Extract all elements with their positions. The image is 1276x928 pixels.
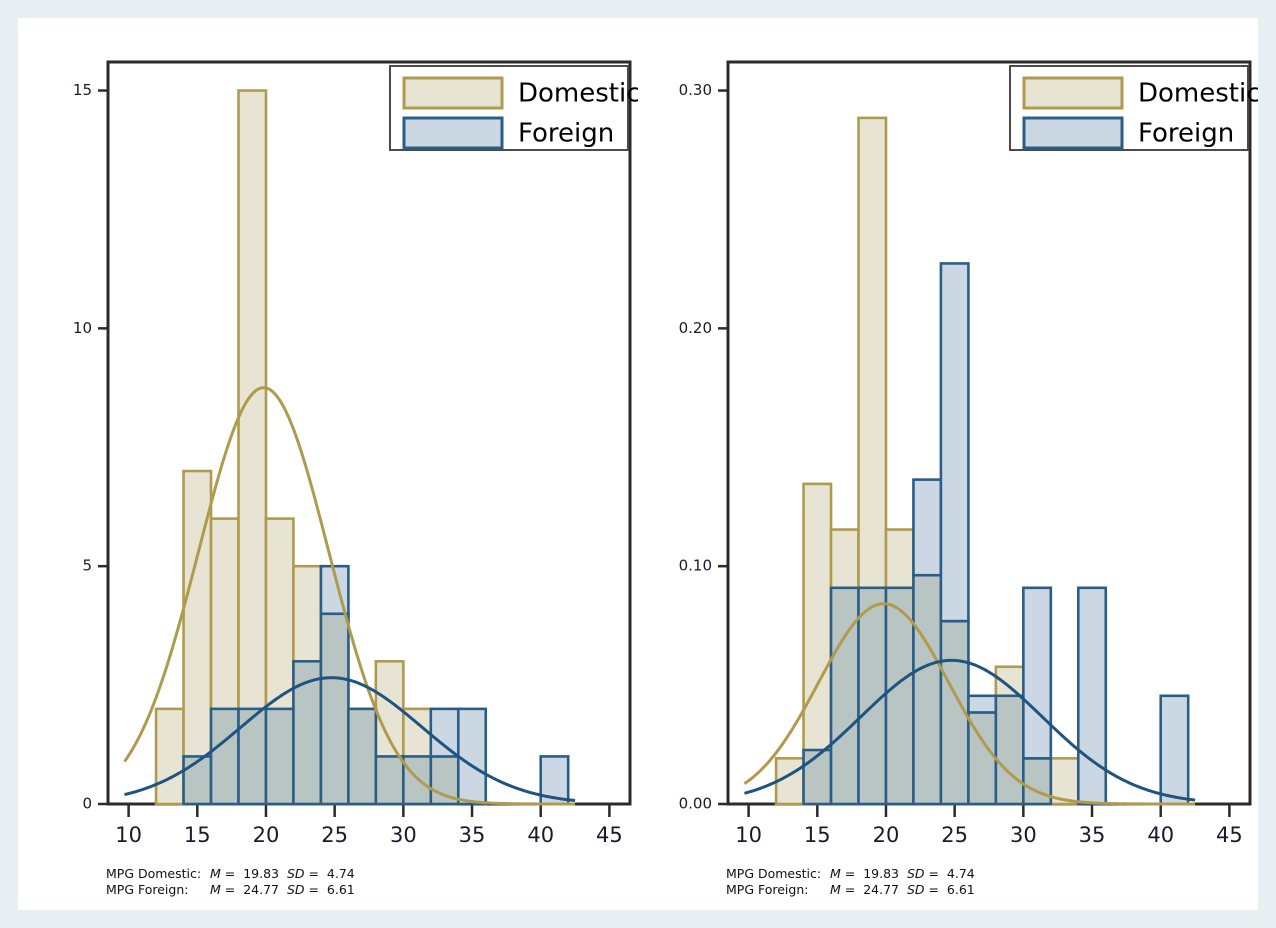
bar-foreign-overlap (266, 709, 293, 804)
bar-foreign-overlap (913, 575, 940, 804)
bar-domestic (156, 709, 183, 804)
histogram-frequency-chart: 0510151015202530354045DomesticForeign (18, 18, 638, 910)
y-axis-tick-label: 10 (73, 319, 92, 337)
y-axis-tick-label: 15 (73, 81, 92, 99)
bar-foreign (1161, 696, 1188, 804)
legend-swatch-domestic (1024, 78, 1122, 108)
chart-panel-right: 0.000.100.200.301015202530354045Domestic… (638, 18, 1258, 910)
y-axis-tick-label: 0.20 (679, 319, 712, 337)
sd-symbol: SD (287, 866, 305, 881)
bar-foreign (1023, 588, 1050, 759)
x-axis-tick-label: 40 (1147, 823, 1174, 847)
stats-note-left: MPG Domestic:M = 19.83 SD = 4.74MPG Fore… (106, 866, 355, 898)
sd-value: 4.74 (947, 866, 975, 881)
sd-value: 4.74 (327, 866, 355, 881)
bar-foreign-overlap (184, 756, 211, 804)
mean-symbol: M (210, 882, 221, 897)
x-axis-tick-label: 20 (873, 823, 900, 847)
bar-domestic (239, 91, 266, 804)
sd-symbol: SD (287, 882, 305, 897)
bar-foreign (913, 480, 940, 576)
x-axis-tick-label: 10 (735, 823, 762, 847)
bar-foreign-overlap (1023, 758, 1050, 804)
sd-value: 6.61 (327, 882, 355, 897)
bar-foreign-overlap (996, 696, 1023, 804)
bar-foreign (968, 696, 995, 713)
mean-symbol: M (830, 882, 841, 897)
chart-panel-left: 0510151015202530354045DomesticForeign MP… (18, 18, 638, 910)
legend-swatch-domestic (404, 78, 502, 108)
stats-note-label: MPG Domestic: (106, 866, 210, 882)
x-axis-tick-label: 25 (941, 823, 968, 847)
mean-value: 24.77 (243, 882, 279, 897)
mean-value: 19.83 (863, 866, 899, 881)
x-axis-tick-label: 35 (1079, 823, 1106, 847)
mean-value: 24.77 (863, 882, 899, 897)
legend-swatch-foreign (404, 118, 502, 148)
x-axis-tick-label: 30 (390, 823, 417, 847)
x-axis-tick-label: 45 (596, 823, 623, 847)
bar-foreign (431, 709, 458, 757)
histogram-density-chart: 0.000.100.200.301015202530354045Domestic… (638, 18, 1258, 910)
y-axis-tick-label: 0.30 (679, 81, 712, 99)
bar-foreign (941, 263, 968, 621)
legend-label-domestic: Domestic (518, 79, 638, 109)
sd-symbol: SD (907, 866, 925, 881)
x-axis-tick-label: 20 (253, 823, 280, 847)
legend-swatch-foreign (1024, 118, 1122, 148)
stats-note-label: MPG Foreign: (106, 882, 210, 898)
y-axis-tick-label: 5 (82, 557, 92, 575)
sd-symbol: SD (907, 882, 925, 897)
mean-symbol: M (830, 866, 841, 881)
x-axis-tick-label: 15 (804, 823, 831, 847)
bar-foreign-overlap (211, 709, 238, 804)
legend-label-foreign: Foreign (1138, 119, 1234, 149)
y-axis-tick-label: 0.10 (679, 557, 712, 575)
x-axis-tick-label: 45 (1216, 823, 1243, 847)
y-axis-tick-label: 0 (82, 795, 92, 813)
stats-note-line: MPG Domestic:M = 19.83 SD = 4.74 (726, 866, 975, 882)
mean-symbol: M (210, 866, 221, 881)
y-axis-tick-label: 0.00 (679, 795, 712, 813)
bars-group (156, 91, 568, 804)
bar-foreign (458, 709, 485, 804)
legend-label-foreign: Foreign (518, 119, 614, 149)
x-axis-tick-label: 15 (184, 823, 211, 847)
x-axis-tick-label: 25 (321, 823, 348, 847)
sd-value: 6.61 (947, 882, 975, 897)
bar-foreign-overlap (804, 750, 831, 804)
bar-foreign-overlap (376, 756, 403, 804)
bars-group (776, 118, 1188, 804)
bar-foreign-overlap (403, 756, 430, 804)
legend-label-domestic: Domestic (1138, 79, 1258, 109)
stats-note-label: MPG Domestic: (726, 866, 830, 882)
bar-foreign-overlap (348, 709, 375, 804)
stats-note-right: MPG Domestic:M = 19.83 SD = 4.74MPG Fore… (726, 866, 975, 898)
figure-card: 0510151015202530354045DomesticForeign MP… (18, 18, 1258, 910)
bar-foreign-overlap (239, 709, 266, 804)
bar-foreign-overlap (321, 614, 348, 804)
stats-note-line: MPG Foreign:M = 24.77 SD = 6.61 (726, 882, 975, 898)
mean-value: 19.83 (243, 866, 279, 881)
x-axis-tick-label: 40 (527, 823, 554, 847)
bar-foreign (1078, 588, 1105, 804)
bar-foreign-overlap (831, 588, 858, 804)
x-axis-tick-label: 35 (459, 823, 486, 847)
x-axis-tick-label: 30 (1010, 823, 1037, 847)
stats-note-line: MPG Foreign:M = 24.77 SD = 6.61 (106, 882, 355, 898)
stats-note-label: MPG Foreign: (726, 882, 830, 898)
stats-note-line: MPG Domestic:M = 19.83 SD = 4.74 (106, 866, 355, 882)
x-axis-tick-label: 10 (115, 823, 142, 847)
